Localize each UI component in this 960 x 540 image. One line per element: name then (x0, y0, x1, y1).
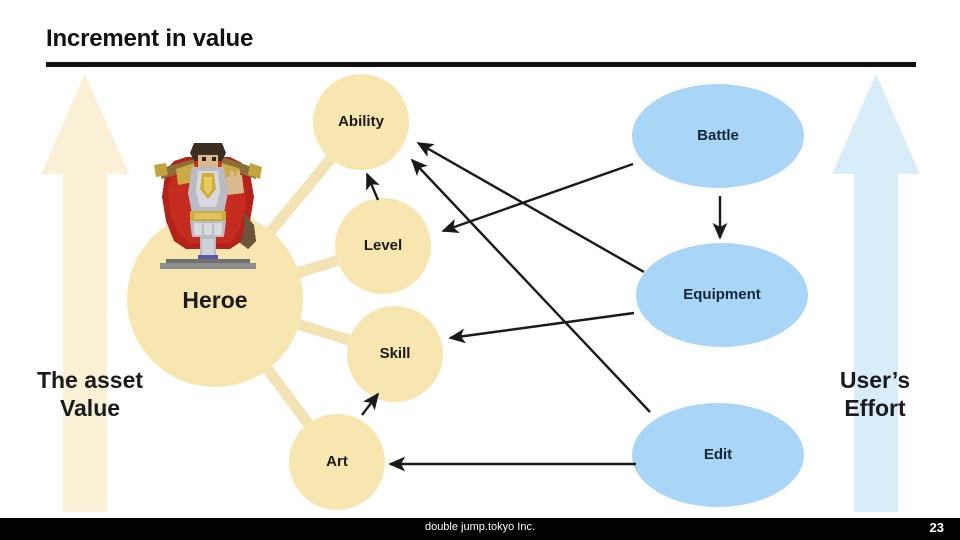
user-effort-arrow (832, 74, 920, 512)
arrow-equipment-to-ability (418, 143, 644, 272)
hero-pixel-art-character (150, 133, 266, 273)
slide-canvas: Increment in value (0, 0, 960, 540)
page-number: 23 (930, 520, 944, 535)
node-level[interactable] (335, 198, 431, 294)
asset-value-label-line2: Value (10, 394, 170, 422)
footer-bar: double jump.tokyo Inc. 23 (0, 518, 960, 540)
footer-company-name: double jump.tokyo Inc. (0, 521, 960, 533)
node-skill[interactable] (347, 306, 443, 402)
effort-node-group (632, 84, 808, 507)
asset-value-label: The asset Value (10, 366, 170, 422)
user-effort-label-line2: Effort (805, 394, 945, 422)
asset-value-label-line1: The asset (10, 366, 170, 394)
arrow-edit-to-ability (412, 160, 650, 412)
node-art[interactable] (289, 414, 385, 510)
node-battle[interactable] (632, 84, 804, 188)
arrow-equipment-to-skill (450, 313, 634, 338)
node-equipment[interactable] (636, 243, 808, 347)
node-ability[interactable] (313, 74, 409, 170)
value-effort-diagram (0, 0, 960, 540)
arrow-art-to-skill (362, 394, 378, 415)
asset-value-arrow (41, 74, 129, 512)
node-edit[interactable] (632, 403, 804, 507)
user-effort-label: User’s Effort (805, 366, 945, 422)
user-effort-label-line1: User’s (805, 366, 945, 394)
arrow-level-to-ability (367, 174, 378, 200)
